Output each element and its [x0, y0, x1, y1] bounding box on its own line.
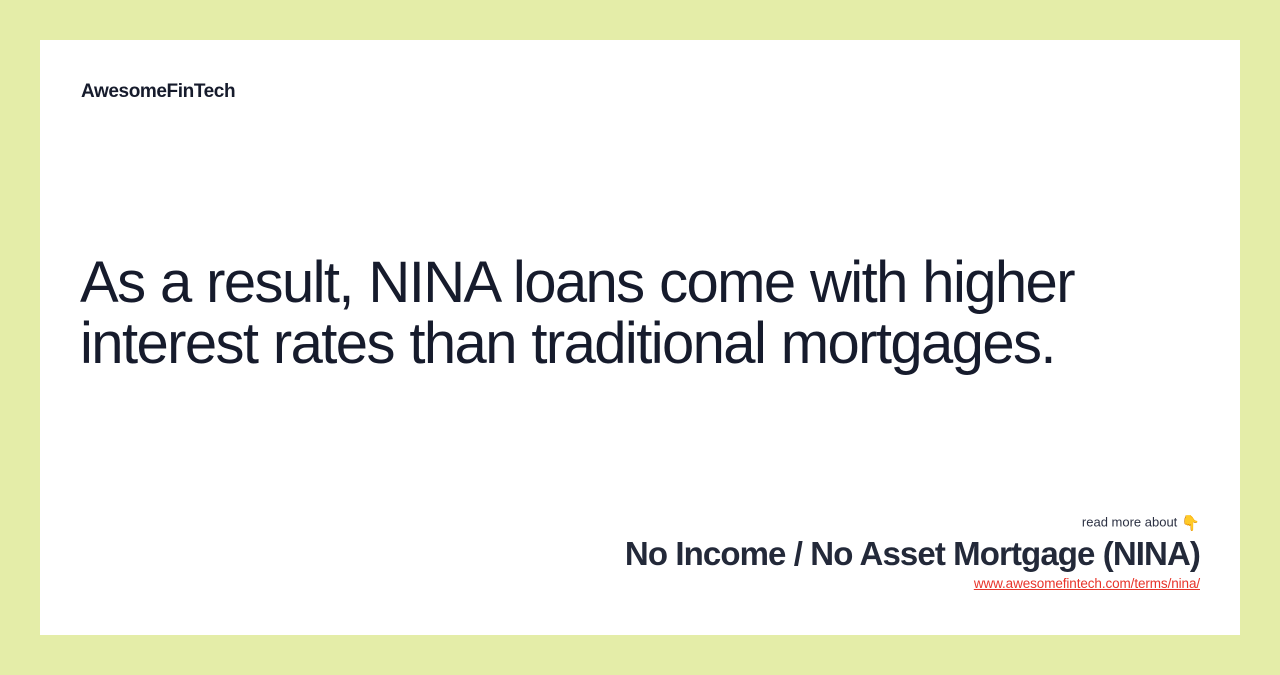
footer-block: read more about👇 No Income / No Asset Mo… [80, 514, 1200, 593]
read-more-label: read more about👇 [80, 514, 1200, 531]
term-title: No Income / No Asset Mortgage (NINA) [80, 534, 1200, 574]
quote-card-page: { "theme": { "page_background": "#e4eda8… [0, 0, 1280, 675]
headline-quote: As a result, NINA loans come with higher… [80, 252, 1115, 374]
content-card: AwesomeFinTech As a result, NINA loans c… [40, 40, 1240, 635]
headline-line-2: interest rates than traditional mortgage… [80, 313, 1115, 374]
pointing-down-hand-icon: 👇 [1181, 516, 1200, 531]
term-url-link[interactable]: www.awesomefintech.com/terms/nina/ [974, 576, 1200, 592]
brand-logo: AwesomeFinTech [81, 82, 235, 101]
headline-line-1: As a result, NINA loans come with higher [80, 252, 1115, 313]
read-more-text: read more about [1082, 515, 1177, 530]
